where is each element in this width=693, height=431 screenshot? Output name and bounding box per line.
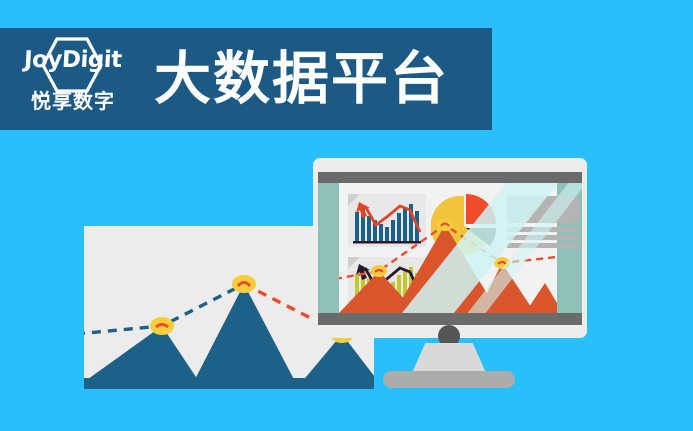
monitor-bottom-bar	[318, 313, 582, 325]
data-marker	[371, 265, 387, 277]
logo-subtext: 悦享数字	[31, 85, 115, 114]
logo-wordmark: JoyDigit	[23, 47, 122, 73]
monitor-top-bar	[318, 172, 582, 183]
screen-left-accent-strip	[318, 183, 339, 313]
data-marker	[494, 257, 510, 269]
screen-area-chart	[339, 211, 557, 313]
banner-title: 大数据平台	[154, 51, 449, 108]
mountain-silhouette-main	[190, 284, 299, 389]
monitor-stand-base	[383, 371, 515, 388]
mountain-area-orange-far	[525, 283, 557, 313]
mountain-area-orange-main	[394, 225, 499, 313]
data-marker	[150, 317, 174, 335]
monitor-stand-neck	[412, 343, 486, 373]
brand-logo: JoyDigit 悦享数字	[14, 33, 132, 125]
header-banner: JoyDigit 悦享数字 大数据平台	[0, 28, 492, 130]
data-marker	[437, 219, 453, 231]
monitor-screen	[318, 183, 582, 313]
monitor-illustration	[313, 158, 587, 338]
mountain-area-orange-right	[477, 263, 535, 313]
banner-illustration-canvas: JoyDigit 悦享数字 大数据平台	[0, 0, 693, 431]
mountain-baseline	[84, 378, 374, 389]
data-marker	[232, 275, 256, 293]
